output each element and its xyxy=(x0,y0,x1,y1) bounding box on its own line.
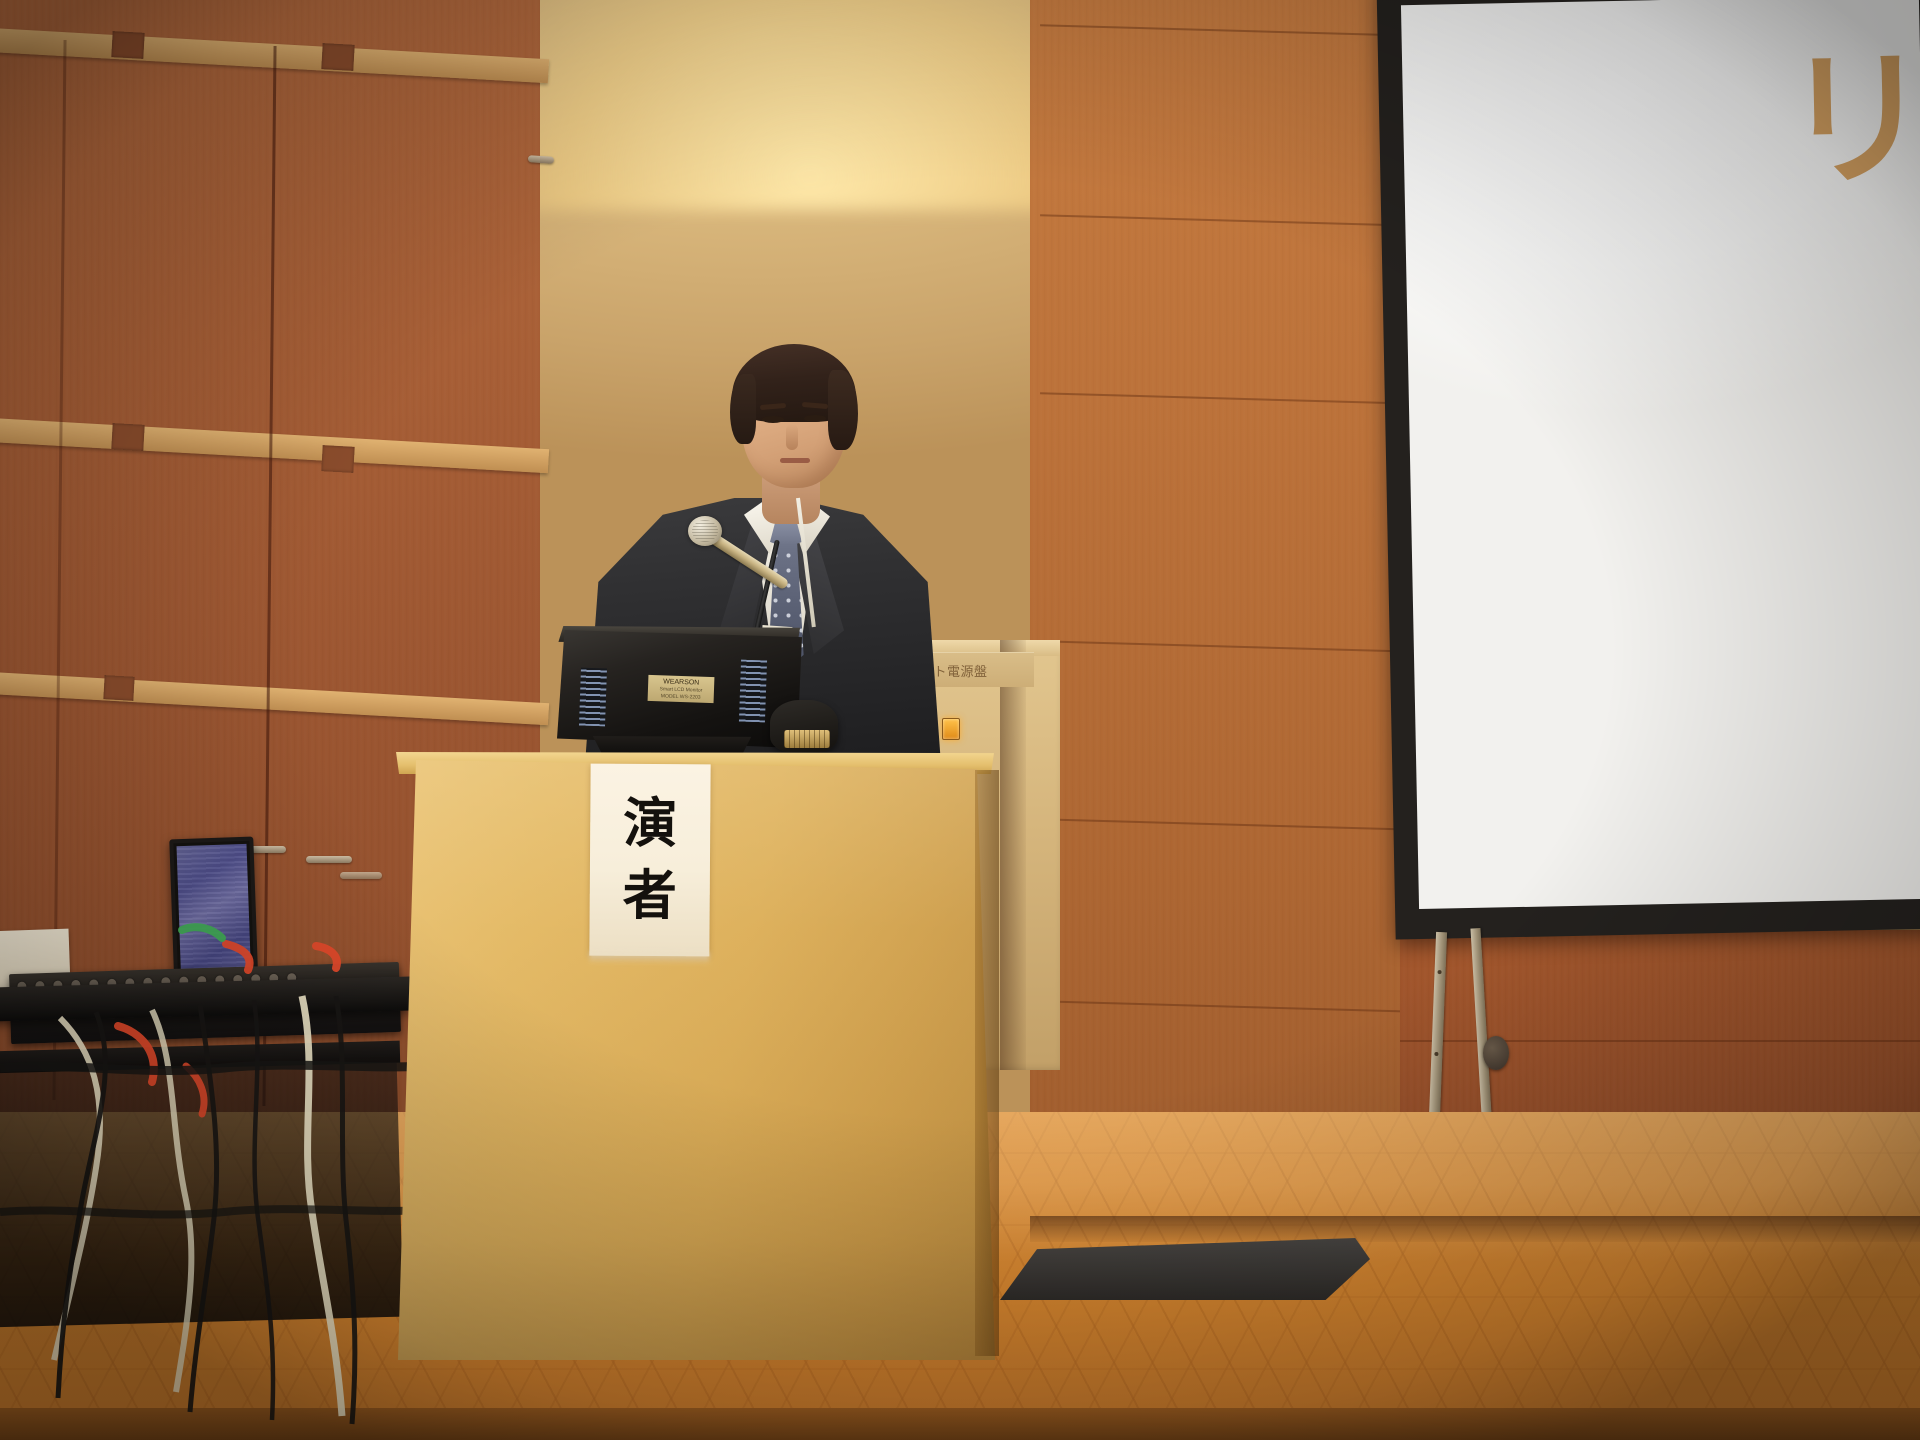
monitor-vent-right xyxy=(739,660,767,723)
podium-side-face xyxy=(975,770,999,1356)
sign-character-2: 者 xyxy=(623,869,677,923)
eye-left xyxy=(762,416,784,423)
projection-screen: リ xyxy=(1376,0,1920,940)
podium-presenter-sign: 演 者 xyxy=(589,764,710,957)
power-indicator-lamp xyxy=(942,718,960,740)
trim-accent-block xyxy=(111,423,144,451)
secondary-microphone-grille xyxy=(784,730,830,748)
monitor-sub-label-3: MODEL WS-2203 xyxy=(648,693,714,702)
screen-stand-knob[interactable] xyxy=(1483,1036,1509,1070)
cable-bundle xyxy=(0,900,460,1440)
monitor-brand-label: WEARSON Smart LCD Monitor MODEL WS-2203 xyxy=(648,675,715,703)
nose xyxy=(786,424,798,450)
trim-accent-block xyxy=(321,43,354,71)
trim-accent-block xyxy=(103,675,134,701)
monitor-vent-left xyxy=(579,668,607,727)
trim-accent-block xyxy=(321,445,354,473)
presentation-scene: イベント電源盤 リ xyxy=(0,0,1920,1440)
door-handle[interactable] xyxy=(340,872,382,879)
alcove-shadow xyxy=(1000,640,1026,1070)
eye-right xyxy=(804,415,826,422)
projection-screen-surface: リ xyxy=(1401,0,1920,909)
microphone-head xyxy=(688,516,722,546)
projection-screen-text: リ xyxy=(1782,51,1920,190)
floor-wall-shadow xyxy=(1030,1216,1920,1242)
trim-accent-block xyxy=(111,31,144,59)
mouth xyxy=(780,458,810,463)
hair-side-left xyxy=(730,374,756,444)
sign-character-1: 演 xyxy=(623,797,677,851)
door-handle[interactable] xyxy=(306,856,352,863)
